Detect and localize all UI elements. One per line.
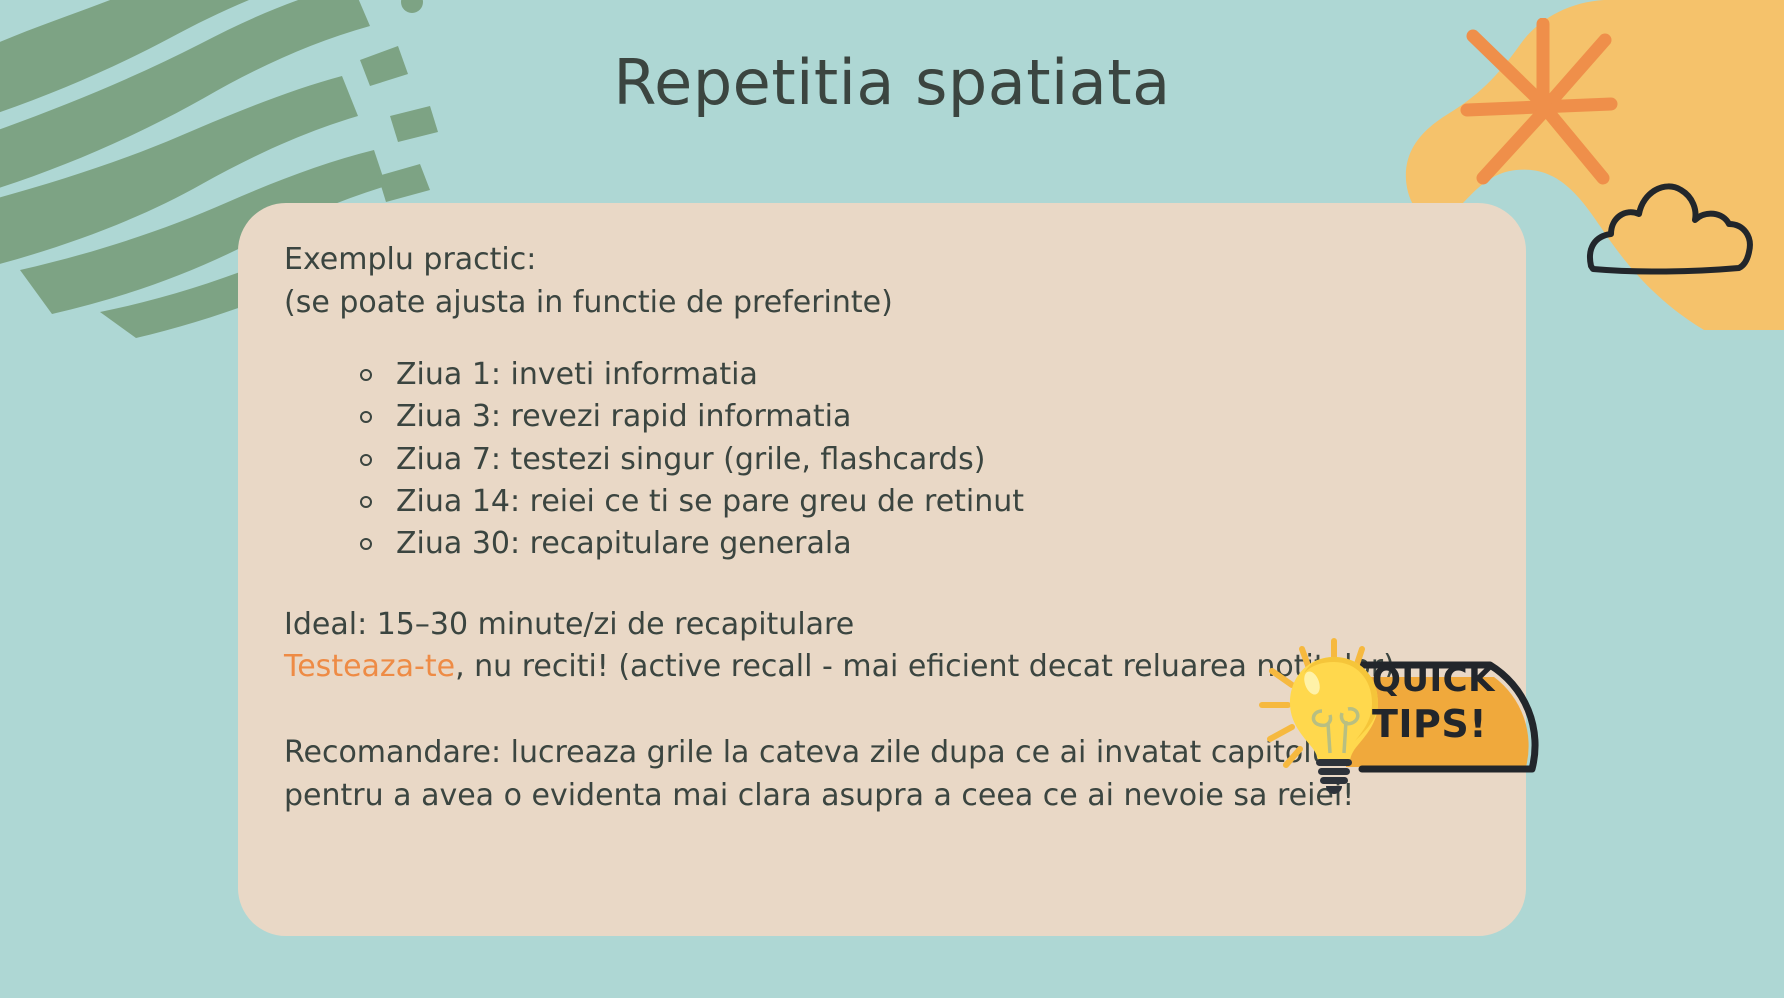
circle-bullet-icon: [360, 411, 372, 423]
list-item-label: Ziua 14: reiei ce ti se pare greu de ret…: [396, 484, 1024, 519]
list-item: Ziua 30: recapitulare generala: [360, 523, 1480, 565]
cloud-icon: [1583, 170, 1758, 275]
list-item: Ziua 7: testezi singur (grile, flashcard…: [360, 439, 1480, 481]
day-schedule-list: Ziua 1: inveti informatia Ziua 3: revezi…: [284, 354, 1480, 565]
quick-tips-line-2: TIPS!: [1372, 705, 1512, 743]
lead-line-2: (se poate ajusta in functie de preferint…: [284, 282, 1480, 325]
page-title: Repetitia spatiata: [0, 46, 1784, 119]
slide-canvas: Repetitia spatiata Exemplu practic: (se …: [0, 0, 1784, 998]
circle-bullet-icon: [360, 538, 372, 550]
list-item: Ziua 1: inveti informatia: [360, 354, 1480, 396]
list-item-label: Ziua 1: inveti informatia: [396, 357, 758, 392]
quick-tips-badge: QUICK TIPS!: [1250, 635, 1550, 795]
circle-bullet-icon: [360, 454, 372, 466]
quick-tips-label: QUICK TIPS!: [1372, 663, 1512, 743]
lead-line-1: Exemplu practic:: [284, 239, 1480, 282]
content-card: Exemplu practic: (se poate ajusta in fun…: [238, 203, 1526, 936]
circle-bullet-icon: [360, 496, 372, 508]
quick-tips-line-1: QUICK: [1372, 663, 1512, 697]
list-item-label: Ziua 7: testezi singur (grile, flashcard…: [396, 442, 985, 477]
circle-bullet-icon: [360, 369, 372, 381]
list-item-label: Ziua 3: revezi rapid informatia: [396, 399, 851, 434]
list-item: Ziua 14: reiei ce ti se pare greu de ret…: [360, 481, 1480, 523]
testeaza-te-highlight: Testeaza-te: [284, 649, 455, 684]
list-item-label: Ziua 30: recapitulare generala: [396, 526, 852, 561]
list-item: Ziua 3: revezi rapid informatia: [360, 396, 1480, 438]
